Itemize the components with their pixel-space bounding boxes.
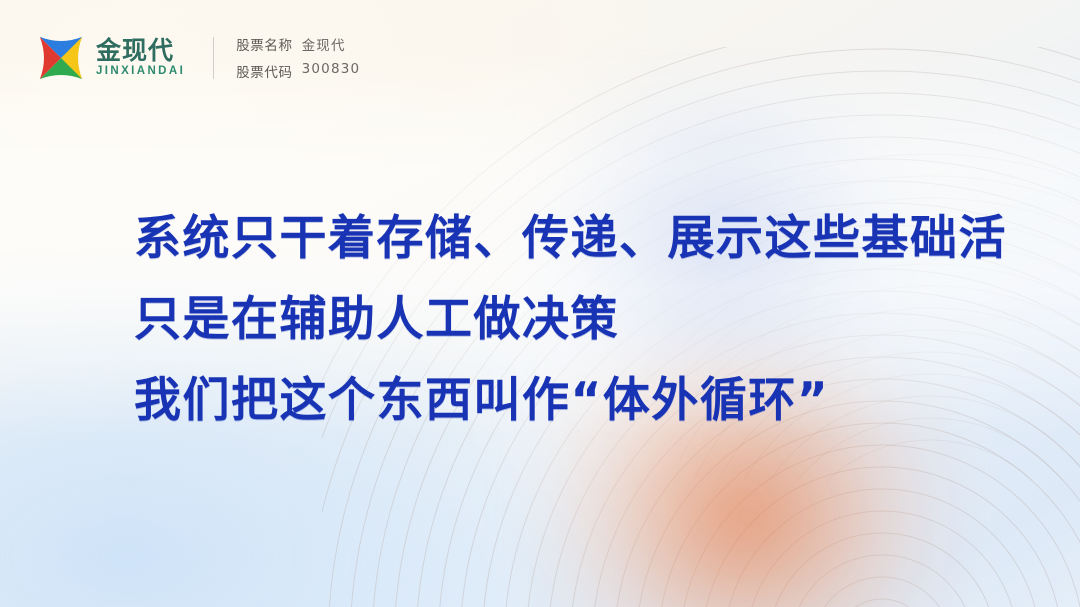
headline-line-3: 我们把这个东西叫作“体外循环” [134,360,1007,441]
stock-name-row: 股票名称 金现代 [236,34,360,54]
stock-name-label: 股票名称 [236,34,292,54]
brand-bar: 金现代 JINXIANDAI 股票名称 金现代 股票代码 300830 [38,34,360,81]
stock-code-value: 300830 [302,61,361,81]
headline-block: 系统只干着存储、传递、展示这些基础活 只是在辅助人工做决策 我们把这个东西叫作“… [134,198,1007,441]
logo-wordmark: 金现代 JINXIANDAI [96,38,185,78]
stock-code-label: 股票代码 [236,61,292,81]
stock-code-row: 股票代码 300830 [236,61,360,81]
logo-name-en: JINXIANDAI [96,66,185,78]
stock-name-value: 金现代 [302,34,346,54]
headline-line-2: 只是在辅助人工做决策 [134,279,1007,360]
headline-line-1: 系统只干着存储、传递、展示这些基础活 [134,198,1007,279]
jinxiandai-logo-icon [38,35,84,81]
brand-divider [213,37,214,79]
stock-info: 股票名称 金现代 股票代码 300830 [236,34,360,81]
logo-name-cn: 金现代 [96,38,185,63]
